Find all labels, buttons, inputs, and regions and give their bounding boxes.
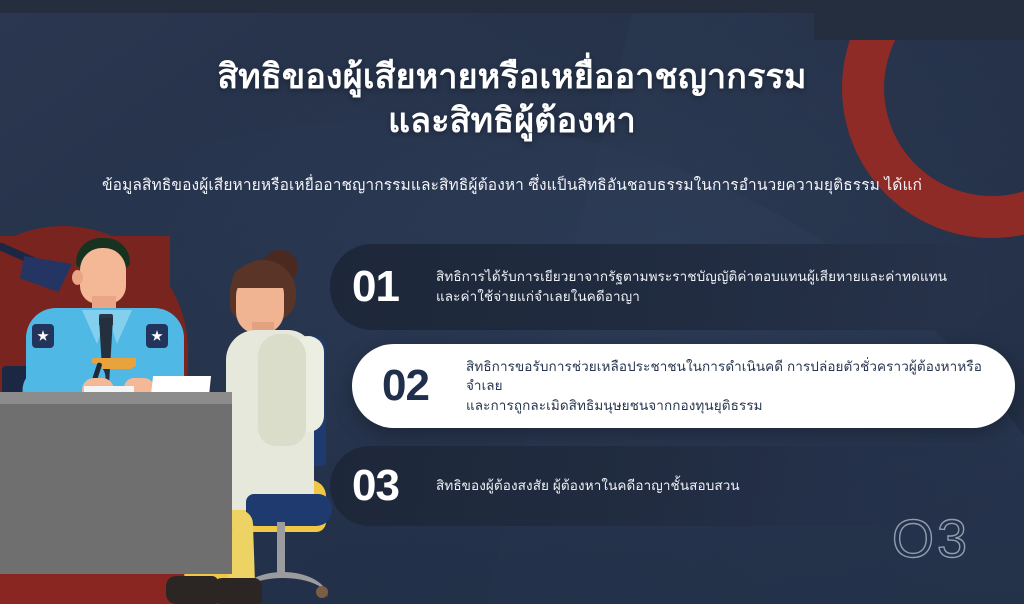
list-item-text: สิทธิของผู้ต้องสงสัย ผู้ต้องหาในคดีอาญาช…	[436, 476, 740, 496]
list-item-line-2: และค่าใช้จ่ายแก่จำเลยในคดีอาญา	[436, 287, 947, 307]
list-item-number: 02	[382, 364, 466, 408]
list-item-02[interactable]: 02 สิทธิการขอรับการช่วยเหลือประชาชนในการ…	[352, 344, 1015, 428]
list-item-line-1: สิทธิการได้รับการเยียวยาจากรัฐตามพระราชบ…	[436, 267, 947, 287]
page-number: O3	[892, 508, 970, 570]
list-item-text: สิทธิการขอรับการช่วยเหลือประชาชนในการดำเ…	[466, 357, 1015, 416]
list-item-line-1: สิทธิการขอรับการช่วยเหลือประชาชนในการดำเ…	[466, 357, 1015, 396]
rights-list: 01 สิทธิการได้รับการเยียวยาจากรัฐตามพระร…	[0, 0, 1024, 604]
infographic-slide: สิทธิของผู้เสียหายหรือเหยื่ออาชญากรรม แล…	[0, 0, 1024, 604]
list-item-line-2: และการถูกละเมิดสิทธิมนุษยชนจากกองทุนยุติ…	[466, 396, 1015, 416]
list-item-number: 01	[352, 265, 436, 309]
list-item-number: 03	[352, 464, 436, 508]
list-item-text: สิทธิการได้รับการเยียวยาจากรัฐตามพระราชบ…	[436, 267, 947, 306]
list-item-line-1: สิทธิของผู้ต้องสงสัย ผู้ต้องหาในคดีอาญาช…	[436, 476, 740, 496]
list-item-01[interactable]: 01 สิทธิการได้รับการเยียวยาจากรัฐตามพระร…	[330, 244, 990, 330]
